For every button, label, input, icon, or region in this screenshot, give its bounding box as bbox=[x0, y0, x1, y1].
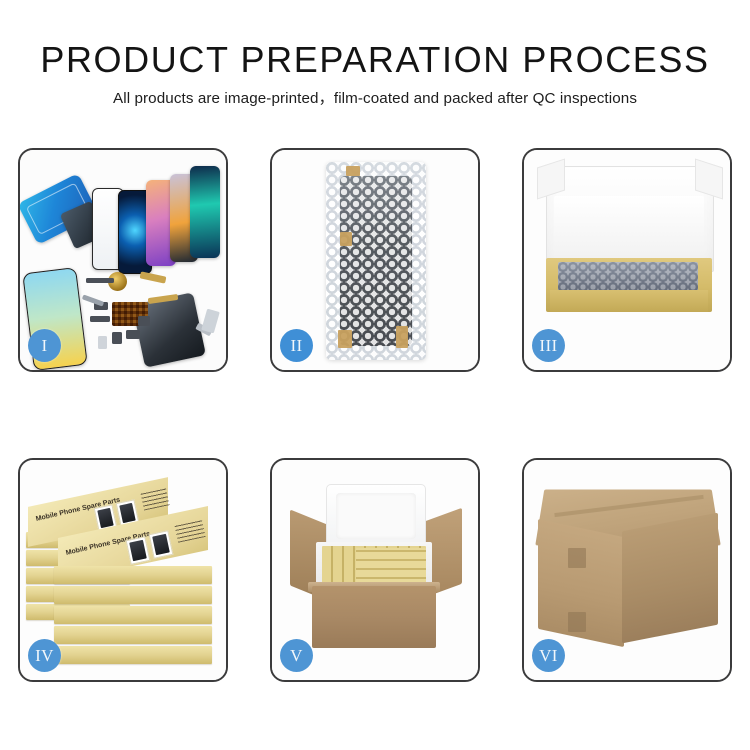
stacked-box-edge bbox=[54, 566, 212, 584]
carton-tab bbox=[568, 612, 586, 632]
process-step-1: I bbox=[18, 148, 228, 372]
tape-strip bbox=[396, 326, 408, 348]
step-badge-3: III bbox=[532, 329, 565, 362]
page-subtitle: All products are image-printed，film-coat… bbox=[0, 88, 750, 110]
small-part bbox=[90, 316, 110, 322]
small-part bbox=[86, 278, 114, 283]
product-preparation-page: PRODUCT PREPARATION PROCESS All products… bbox=[0, 0, 750, 750]
tape-strip bbox=[340, 232, 352, 246]
small-part bbox=[112, 332, 122, 344]
carton-front-face bbox=[312, 586, 436, 648]
small-part bbox=[201, 309, 220, 334]
process-step-2: II bbox=[270, 148, 480, 372]
process-step-3: III bbox=[522, 148, 732, 372]
stacked-box-edge bbox=[54, 646, 212, 664]
tape-strip bbox=[338, 330, 352, 348]
stacked-box-edge bbox=[54, 586, 212, 604]
box-front-face bbox=[550, 290, 708, 312]
flex-cable-part bbox=[140, 271, 167, 283]
small-part bbox=[126, 330, 140, 339]
stacked-box-edge bbox=[54, 626, 212, 644]
process-step-5: V bbox=[270, 458, 480, 682]
tape-strip bbox=[346, 166, 360, 176]
flex-cable-part bbox=[82, 294, 104, 306]
teal-swirl-phone bbox=[190, 166, 220, 258]
step-badge-6: VI bbox=[532, 639, 565, 672]
packed-boxes bbox=[356, 548, 426, 586]
step-badge-5: V bbox=[280, 639, 313, 672]
box-stack: Mobile Phone Spare Parts Mobile Phone Sp… bbox=[24, 480, 224, 662]
foam-lid bbox=[326, 484, 426, 548]
process-step-6: VI bbox=[522, 458, 732, 682]
bubble-wrap-bag bbox=[326, 162, 426, 360]
carton-right-face bbox=[622, 513, 718, 644]
process-step-4: Mobile Phone Spare Parts Mobile Phone Sp… bbox=[18, 458, 228, 682]
page-header: PRODUCT PREPARATION PROCESS All products… bbox=[0, 38, 750, 110]
stacked-box-edge bbox=[54, 606, 212, 624]
process-grid: I II bbox=[18, 148, 732, 682]
carton-tab bbox=[568, 548, 586, 568]
step-badge-4: IV bbox=[28, 639, 61, 672]
page-title: PRODUCT PREPARATION PROCESS bbox=[0, 38, 750, 82]
step-badge-2: II bbox=[280, 329, 313, 362]
small-part bbox=[138, 316, 150, 326]
step-badge-1: I bbox=[28, 329, 61, 362]
small-part bbox=[98, 336, 107, 349]
